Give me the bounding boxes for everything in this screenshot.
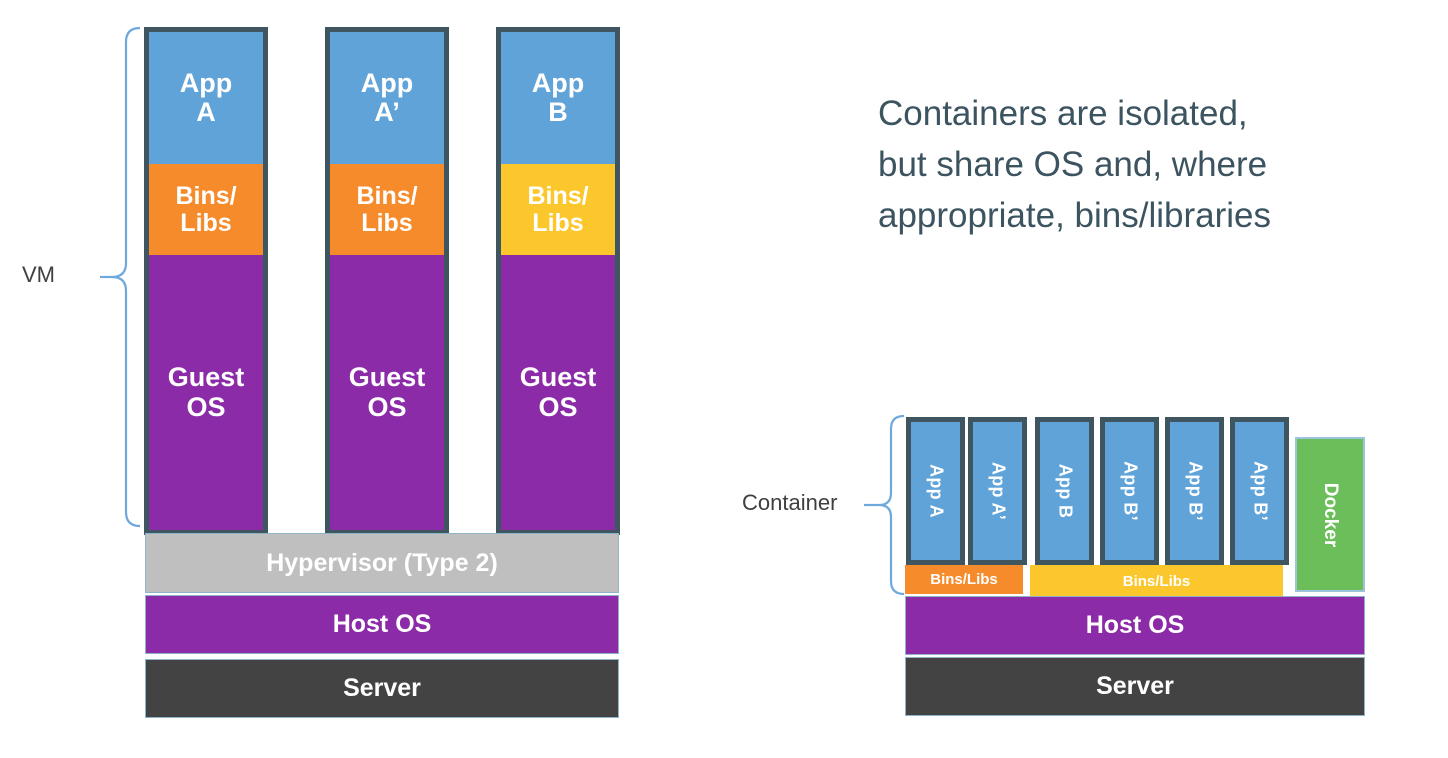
caption-text: Containers are isolated, but share OS an…	[878, 88, 1398, 241]
container-app-label: App A	[925, 464, 946, 518]
vm-app-box: App B	[501, 32, 615, 164]
vm-server-band: Server	[145, 659, 619, 718]
container-app-1: App A	[906, 417, 965, 565]
container-app-2: App A’	[968, 417, 1027, 565]
vm-bins-libs-box: Bins/ Libs	[330, 164, 444, 255]
vm-guest-os-box: Guest OS	[330, 255, 444, 530]
container-app-6: App B’	[1230, 417, 1289, 565]
container-brace-icon	[862, 413, 906, 597]
vm-column-2: App A’ Bins/ Libs Guest OS	[325, 27, 449, 535]
container-app-label: App B’	[1249, 461, 1270, 521]
container-label: Container	[742, 490, 837, 516]
vm-bins-libs-box: Bins/ Libs	[501, 164, 615, 255]
docker-label: Docker	[1319, 482, 1341, 546]
vm-app-box: App A’	[330, 32, 444, 164]
container-app-label: App B’	[1119, 461, 1140, 521]
caption-line-1: Containers are isolated,	[878, 88, 1398, 139]
caption-line-2: but share OS and, where	[878, 139, 1398, 190]
vm-label: VM	[22, 262, 55, 288]
vm-column-1: App A Bins/ Libs Guest OS	[144, 27, 268, 535]
vm-bins-libs-box: Bins/ Libs	[149, 164, 263, 255]
container-app-3: App B	[1035, 417, 1094, 565]
container-app-4: App B’	[1100, 417, 1159, 565]
vm-guest-os-box: Guest OS	[501, 255, 615, 530]
container-server-band: Server	[905, 657, 1365, 716]
container-bins-libs-orange: Bins/Libs	[905, 565, 1023, 594]
container-app-5: App B’	[1165, 417, 1224, 565]
container-host-os-band: Host OS	[905, 596, 1365, 655]
vm-brace-icon	[100, 25, 144, 530]
diagram-canvas: VM App A Bins/ Libs Guest OS App A’ Bins…	[0, 0, 1448, 758]
container-app-label: App B	[1054, 464, 1075, 519]
vm-host-os-band: Host OS	[145, 595, 619, 654]
container-app-label: App A’	[987, 462, 1008, 520]
caption-line-3: appropriate, bins/libraries	[878, 190, 1398, 241]
vm-column-3: App B Bins/ Libs Guest OS	[496, 27, 620, 535]
docker-box: Docker	[1295, 437, 1365, 592]
vm-hypervisor-band: Hypervisor (Type 2)	[145, 533, 619, 593]
vm-guest-os-box: Guest OS	[149, 255, 263, 530]
container-bins-libs-yellow: Bins/Libs	[1030, 565, 1283, 597]
container-app-label: App B’	[1184, 461, 1205, 521]
vm-app-box: App A	[149, 32, 263, 164]
